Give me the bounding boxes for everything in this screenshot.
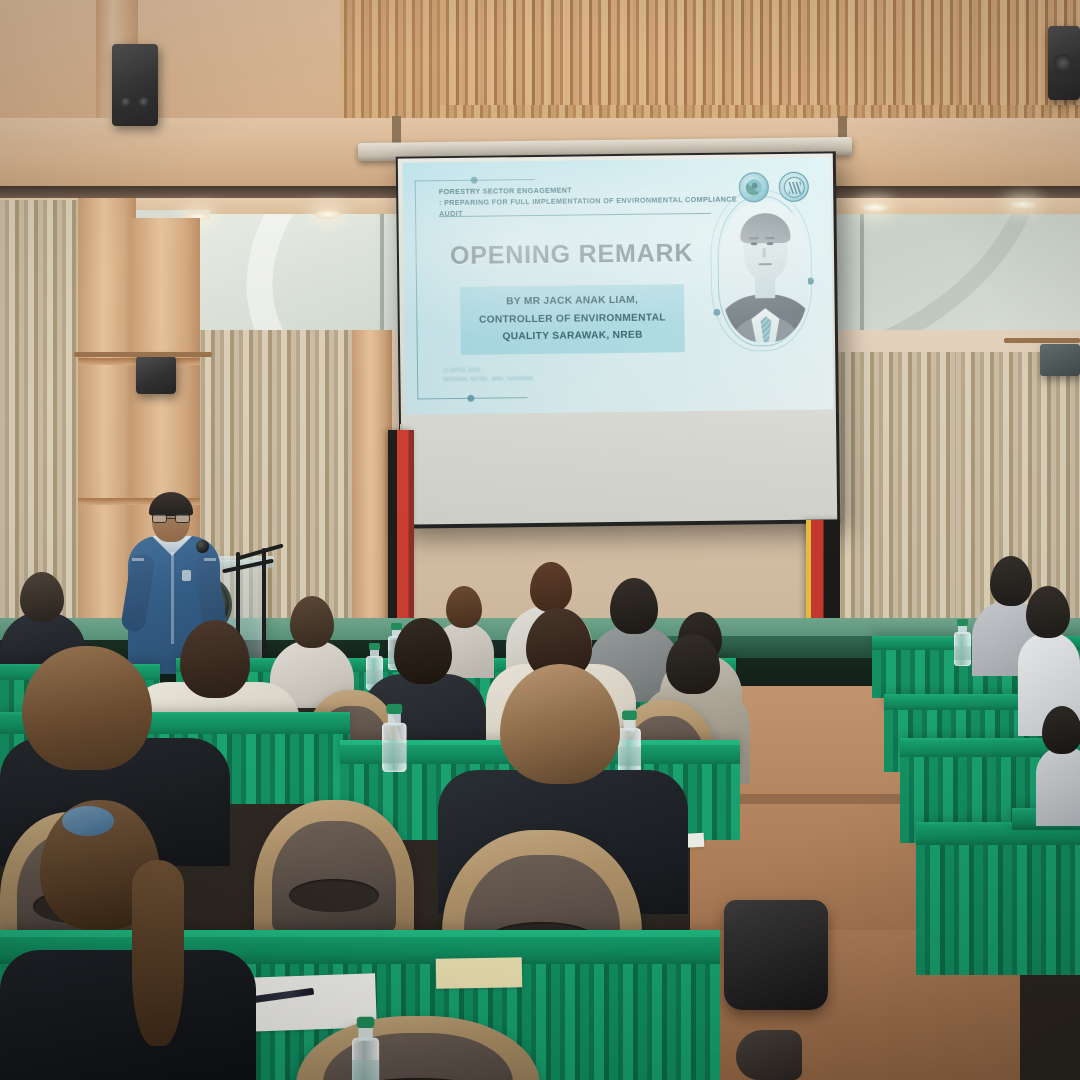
portrait-mouth — [759, 263, 772, 265]
portrait-brow-left — [749, 237, 758, 239]
speaker-mount-arm-left — [74, 352, 212, 357]
portrait-hair — [740, 213, 790, 244]
projector-mount-arm — [1004, 338, 1080, 343]
attendee-head — [20, 572, 64, 622]
attendee-hair — [22, 646, 152, 770]
attendee-right-3 — [1036, 706, 1080, 826]
attendee-torso — [0, 950, 256, 1080]
slide-portrait — [721, 202, 809, 343]
backpack — [724, 900, 828, 1010]
wall-speaker-left — [136, 356, 176, 394]
slide-subtitle-box: BY MR JACK ANAK LIAM, CONTROLLER OF ENVI… — [460, 284, 685, 354]
projector-unit — [1040, 344, 1080, 376]
downlight — [1010, 200, 1036, 209]
attendee-head — [1042, 706, 1080, 754]
table-skirt-right-4 — [916, 845, 1080, 975]
attendee-head — [1026, 586, 1070, 638]
slide-footer-line-2: IMPERIAL HOTEL, MIRI, SARAWAK — [443, 374, 623, 385]
portrait-nose — [763, 248, 766, 257]
attendee-ponytail — [132, 860, 184, 1046]
ceiling-wood-slats-secondary — [440, 0, 1080, 105]
water-bottle — [954, 620, 971, 666]
shoe — [736, 1030, 802, 1080]
flag-left — [388, 430, 414, 635]
presenter-hair — [149, 492, 193, 516]
water-bottle — [382, 705, 407, 772]
portrait-brow-right — [765, 237, 774, 239]
downlight — [862, 203, 888, 212]
ceiling-speaker-right — [1048, 26, 1080, 100]
attendee-head — [500, 664, 620, 784]
banquet-chair[interactable] — [296, 1016, 540, 1080]
presenter-sleeve-trim-left — [132, 558, 144, 561]
yellow-notepad — [436, 957, 523, 988]
curtain-right — [836, 352, 956, 652]
downlight — [315, 210, 341, 219]
projected-slide: FORESTRY SECTOR ENGAGEMENT : PREPARING F… — [402, 157, 833, 414]
presenter-eyeglasses — [152, 514, 190, 523]
ceiling-speaker-left — [112, 44, 158, 126]
water-bottle — [352, 1018, 379, 1080]
conference-hall-photo: FORESTRY SECTOR ENGAGEMENT : PREPARING F… — [0, 0, 1080, 1080]
attendee-torso — [1036, 746, 1080, 826]
attendee-head — [530, 562, 572, 612]
microphone-1 — [196, 540, 209, 553]
presenter-badge — [182, 570, 191, 581]
pillar-center — [352, 330, 392, 660]
slide-footer: 22 APRIL 2025 IMPERIAL HOTEL, MIRI, SARA… — [443, 365, 623, 385]
slide-tick-top — [471, 177, 478, 184]
slide-rule-vertical — [415, 180, 419, 398]
slide-subtitle-line-2: CONTROLLER OF ENVIRONMENTAL — [466, 309, 678, 329]
attendee-foreground — [0, 800, 256, 1080]
hair-scrunchie — [62, 806, 114, 836]
slide-tick-bottom — [467, 395, 474, 402]
slide-subtitle-line-3: QUALITY SARAWAK, NREB — [467, 326, 679, 346]
presenter-sleeve-trim-right — [204, 558, 216, 561]
portrait-illustration — [721, 202, 809, 343]
